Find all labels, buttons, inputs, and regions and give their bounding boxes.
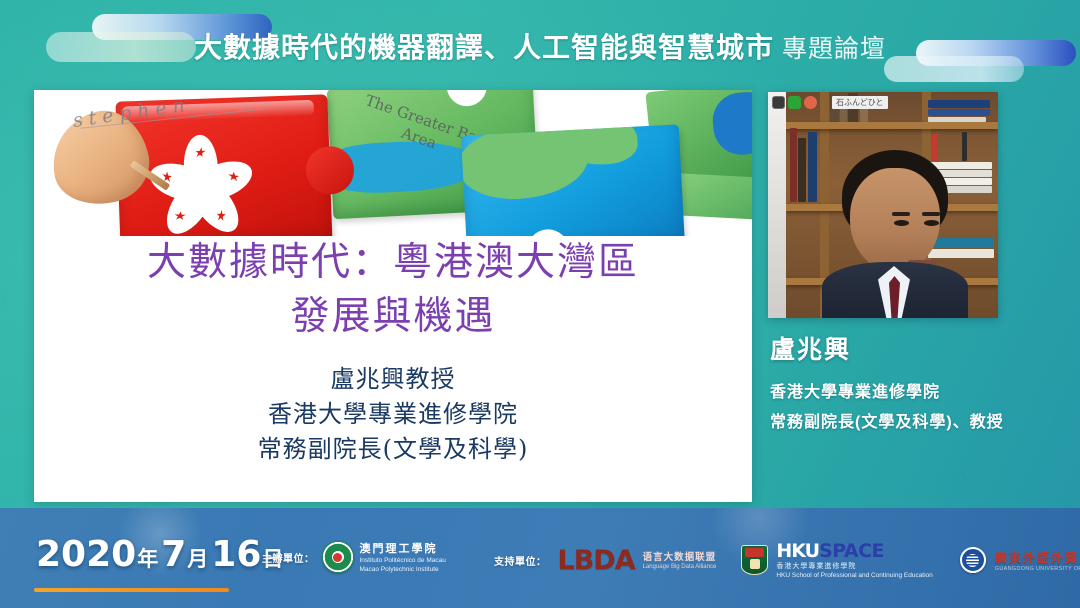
puzzle-notch (446, 90, 488, 107)
puzzle-piece-ocean (461, 124, 685, 236)
bookshelf-shelf (786, 122, 998, 129)
avatar-eyebrow-left (892, 212, 910, 216)
puzzle-sea-far (710, 90, 752, 157)
puzzle-illustration: The Greater Bay Area ★★★★★ stephe (34, 90, 752, 236)
macao-polytechnic-crest-icon (322, 541, 354, 573)
record-icon[interactable] (804, 96, 817, 109)
hku-space-name-en: HKU School of Professional and Continuin… (776, 571, 932, 580)
video-toolbar-label: 石ふんどひと (832, 96, 888, 109)
lbda-wordmark: LBDA (558, 547, 635, 574)
date-accent-underline (34, 588, 229, 592)
event-date-year-unit: 年 (137, 548, 158, 571)
livestream-stage: 大數據時代的機器翻譯、人工智能與智慧城市專題論壇 The Greater Bay… (0, 0, 1080, 608)
book-stack (928, 117, 986, 122)
slide-presenter-block: 盧兆興教授 香港大學專業進修學院 常務副院長(文學及科學) (34, 362, 752, 467)
event-date-day: 16 (211, 534, 261, 575)
avatar-eye-left (894, 220, 909, 226)
speaker-video-panel[interactable]: 石ふんどひと (768, 92, 998, 318)
hku-space-name-cn: 香港大學專業進修學院 (776, 562, 932, 571)
event-date-month: 7 (161, 534, 186, 575)
header-banner: 大數據時代的機器翻譯、人工智能與智慧城市專題論壇 (0, 0, 1080, 88)
video-left-strip (768, 92, 786, 318)
logo-macao-polytechnic: 澳門理工學院 Instituto Politécnico de Macau Ma… (322, 540, 446, 574)
avatar-eye-right (924, 220, 939, 226)
mpi-name-cn: 澳門理工學院 (360, 540, 446, 556)
gdufs-name-cn: 廣東外語外貿大學 (995, 549, 1080, 566)
forum-title-main: 大數據時代的機器翻譯、人工智能與智慧城市 (194, 32, 774, 63)
book-stack (928, 109, 990, 116)
speaker-avatar (820, 150, 970, 318)
host-label: 主辦單位： (262, 550, 315, 565)
hku-wordmark: HKU (776, 540, 819, 562)
forum-title-sub: 專題論壇 (782, 35, 886, 63)
event-date: 2020年7月16日 (36, 534, 286, 575)
book (798, 138, 806, 202)
support-label: 支持單位： (494, 553, 547, 568)
lbda-name-cn: 语言大数据联盟 (643, 549, 717, 563)
space-wordmark: SPACE (819, 540, 884, 562)
book-stack (928, 100, 990, 108)
support-organizations: 支持單位： LBDA 语言大数据联盟 Language Big Data All… (494, 540, 1080, 580)
presentation-slide: The Greater Bay Area ★★★★★ stephe (34, 90, 752, 502)
mpi-name-pt: Instituto Politécnico de Macau (360, 556, 446, 565)
avatar-face (850, 168, 940, 272)
gdufs-crest-icon (960, 547, 986, 573)
footer-banner: 2020年7月16日 主辦單位： 澳門理工學院 Instituto Polité… (0, 508, 1080, 608)
event-date-year: 2020 (36, 534, 136, 575)
slide-title-line-1: 大數據時代：粵港澳大灣區 (34, 236, 752, 290)
logo-lbda: LBDA 语言大数据联盟 Language Big Data Alliance (558, 547, 717, 574)
slide-presenter-name: 盧兆興教授 (34, 362, 752, 397)
avatar-eyebrow-right (922, 212, 940, 216)
gear-icon[interactable] (772, 96, 785, 109)
check-icon[interactable] (788, 96, 801, 109)
slide-title: 大數據時代：粵港澳大灣區 發展與機遇 (34, 236, 752, 344)
logo-gdufs: 廣東外語外貿大學 GUANGDONG UNIVERSITY OF FOREIGN… (960, 547, 1080, 573)
book (808, 132, 817, 202)
speaker-name: 盧兆興 (770, 330, 1070, 366)
gdufs-name-en: GUANGDONG UNIVERSITY OF FOREIGN STUDIES (995, 566, 1080, 572)
lbda-name-en: Language Big Data Alliance (643, 563, 717, 572)
puzzle-piece-green-far2 (673, 173, 752, 221)
slide-presenter-role: 常務副院長(文學及科學) (34, 432, 752, 467)
slide-presenter-org: 香港大學專業進修學院 (34, 397, 752, 432)
speaker-info: 盧兆興 香港大學專業進修學院 常務副院長(文學及科學)、教授 (770, 330, 1070, 438)
speaker-organization: 香港大學專業進修學院 (770, 378, 1070, 408)
puzzle-notch-ocean (526, 228, 570, 236)
mpi-name-en: Macao Polytechnic Institute (360, 565, 446, 574)
video-toolbar[interactable]: 石ふんどひと (770, 94, 890, 111)
host-organizations: 主辦單位： 澳門理工學院 Instituto Politécnico de Ma… (262, 540, 446, 574)
speaker-role: 常務副院長(文學及科學)、教授 (770, 408, 1070, 438)
logo-hku-space: HKUSPACE 香港大學專業進修學院 HKU School of Profes… (741, 540, 932, 580)
slide-title-line-2: 發展與機遇 (34, 290, 752, 344)
book (790, 128, 797, 202)
forum-title: 大數據時代的機器翻譯、人工智能與智慧城市專題論壇 (0, 26, 1080, 66)
event-date-month-unit: 月 (187, 548, 208, 571)
hku-crest-icon (741, 545, 768, 575)
